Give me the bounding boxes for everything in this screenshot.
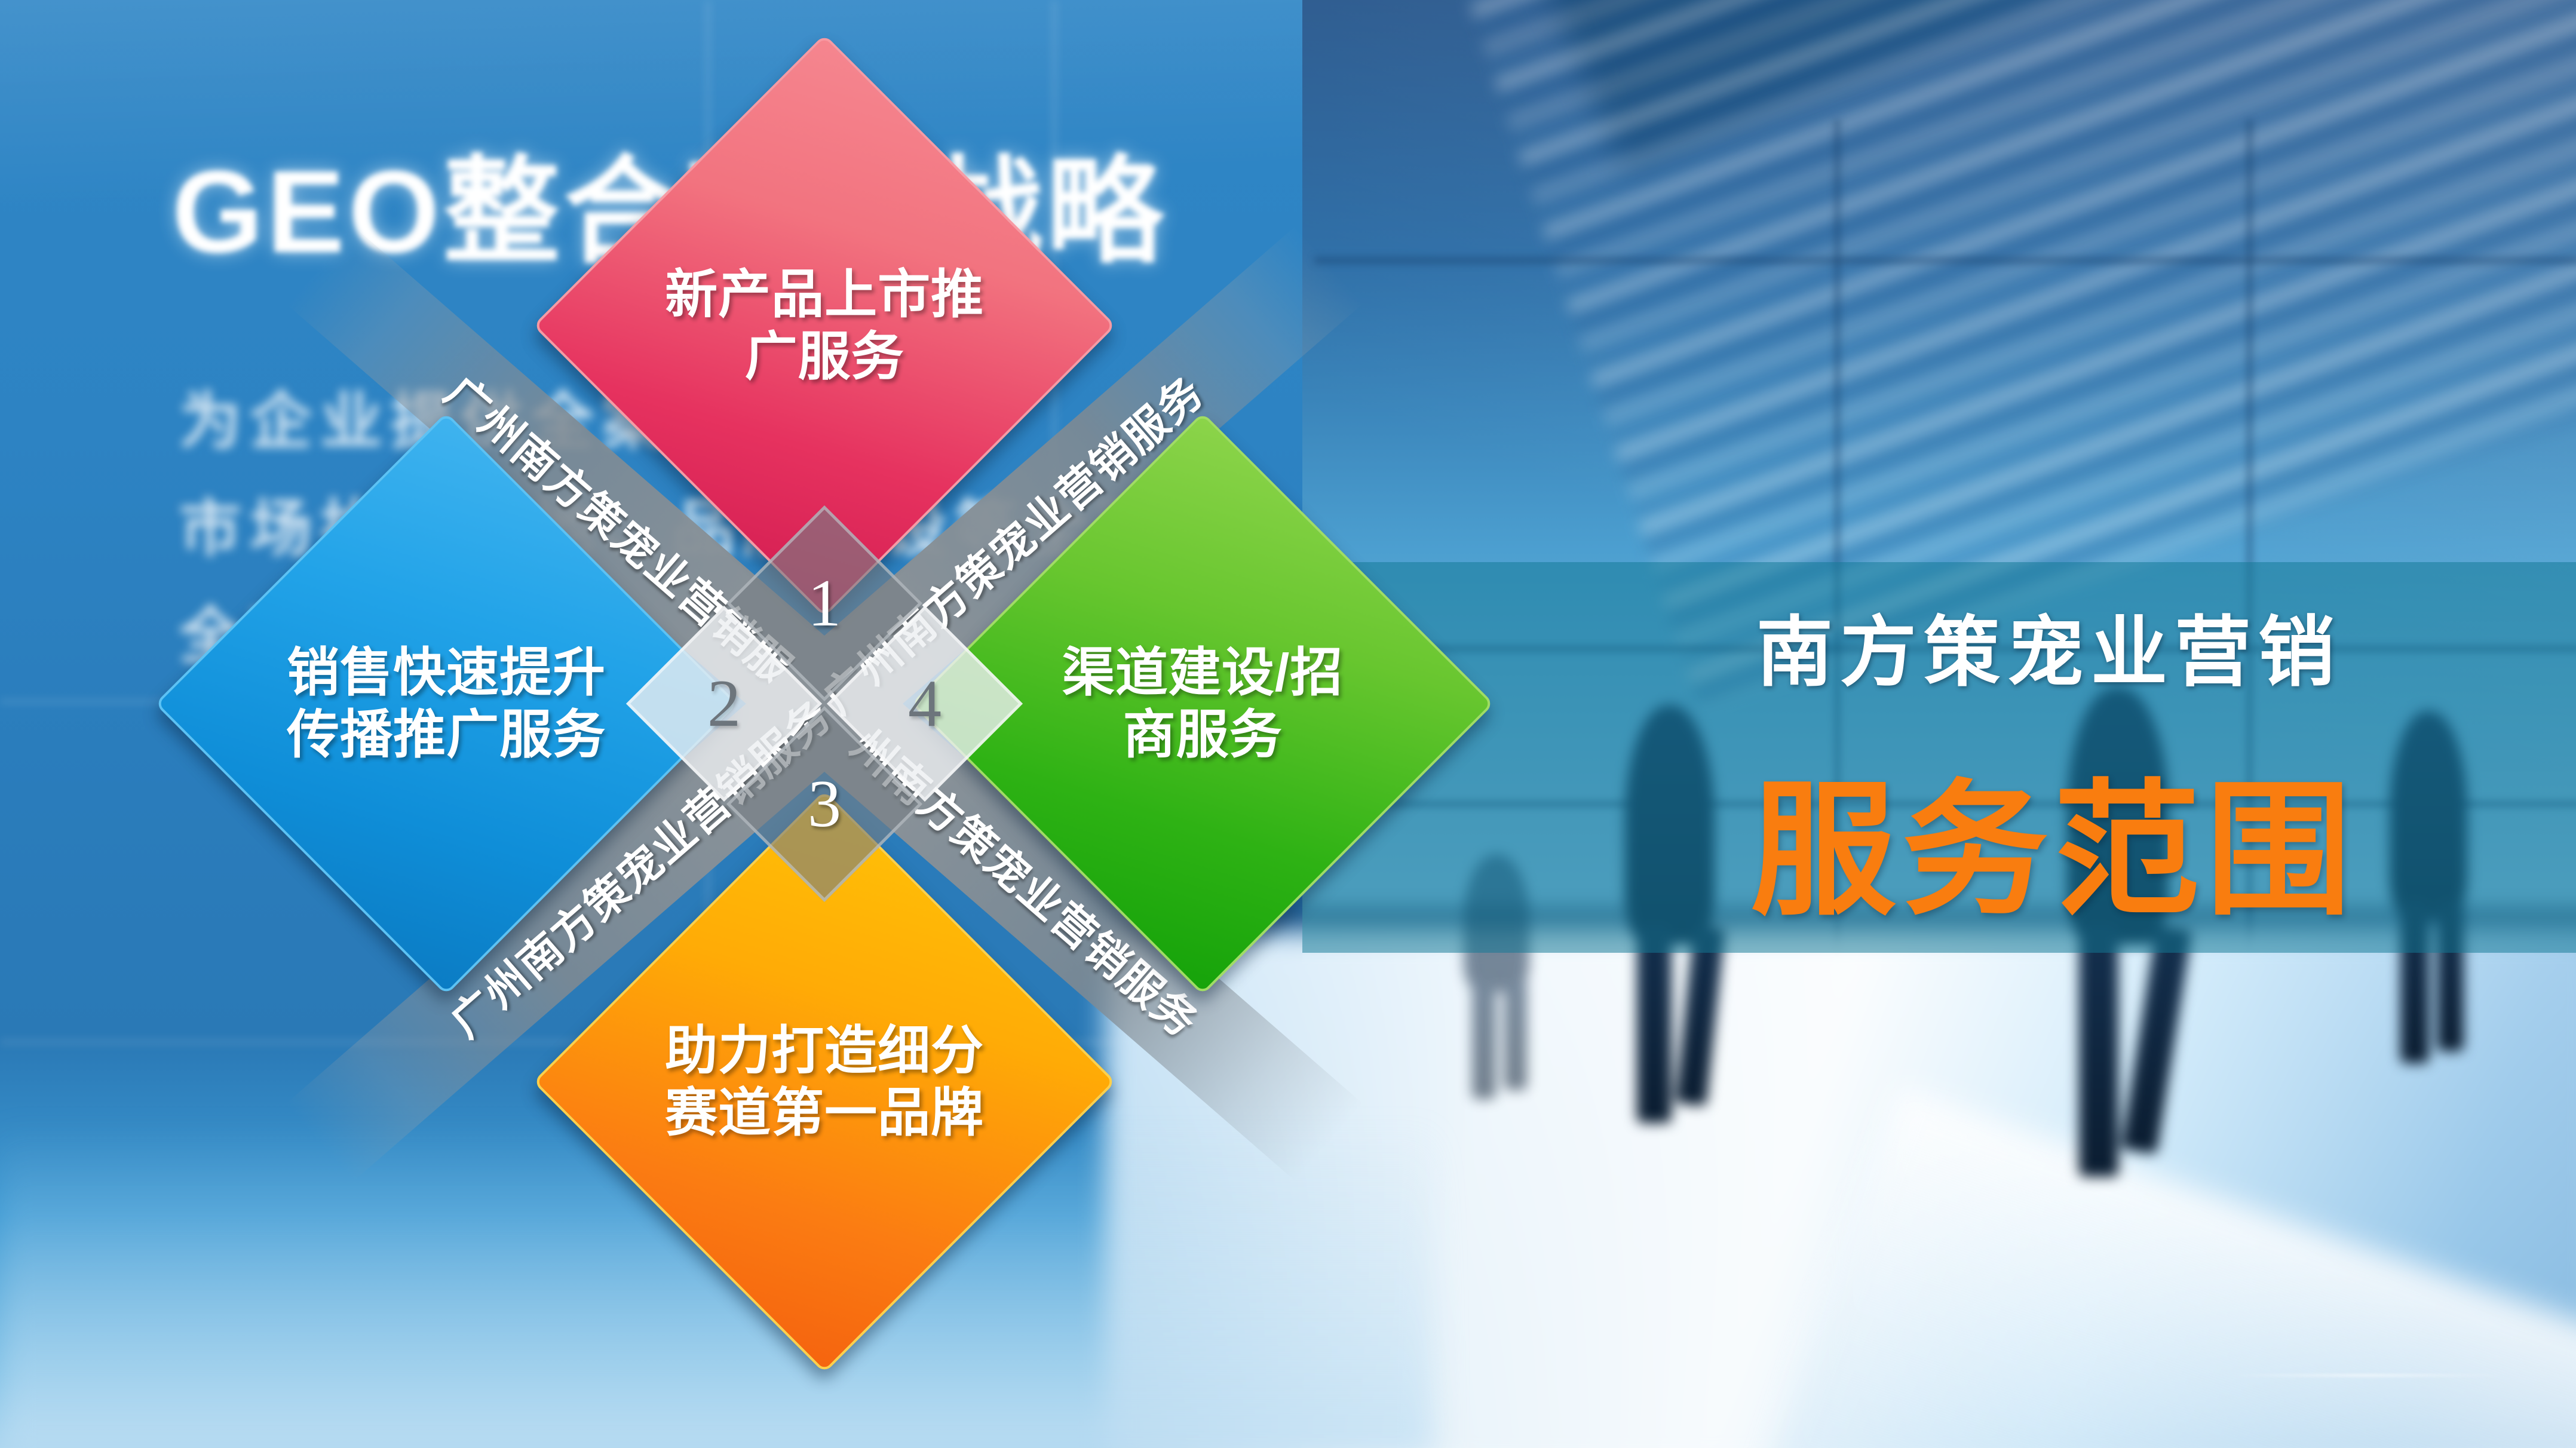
service-label-line: 广服务 [621,326,1028,388]
service-label-line: 赛道第一品牌 [621,1082,1028,1144]
service-diamond-label: 新产品上市推 广服务 [621,263,1028,388]
service-label-line: 传播推广服务 [243,704,650,766]
service-diamond-label: 助力打造细分 赛道第一品牌 [621,1020,1028,1144]
number-badge-label: 2 [707,670,741,737]
number-badge-label: 1 [808,570,841,637]
service-label-line: 助力打造细分 [621,1020,1028,1082]
service-diamond-label: 销售快速提升 传播推广服务 [243,642,650,766]
service-label-line: 销售快速提升 [243,642,650,704]
service-label-line: 商服务 [999,704,1406,766]
page-title: 服务范围 [1750,732,2357,943]
service-label-line: 新产品上市推 [621,263,1028,326]
brand-name: 南方策宠业营销 [1756,590,2342,701]
service-diamond-label: 渠道建设/招 商服务 [999,642,1406,766]
number-badge-label: 4 [908,670,942,737]
service-label-line: 渠道建设/招 [999,642,1406,704]
decorative-divider [2222,1374,2509,1377]
number-badge-label: 3 [808,771,841,837]
poster-canvas: GEO整合营销战略 为企业提供全案营销策划、 市场执行落地、品牌建设等全面 全面… [0,0,2576,1448]
